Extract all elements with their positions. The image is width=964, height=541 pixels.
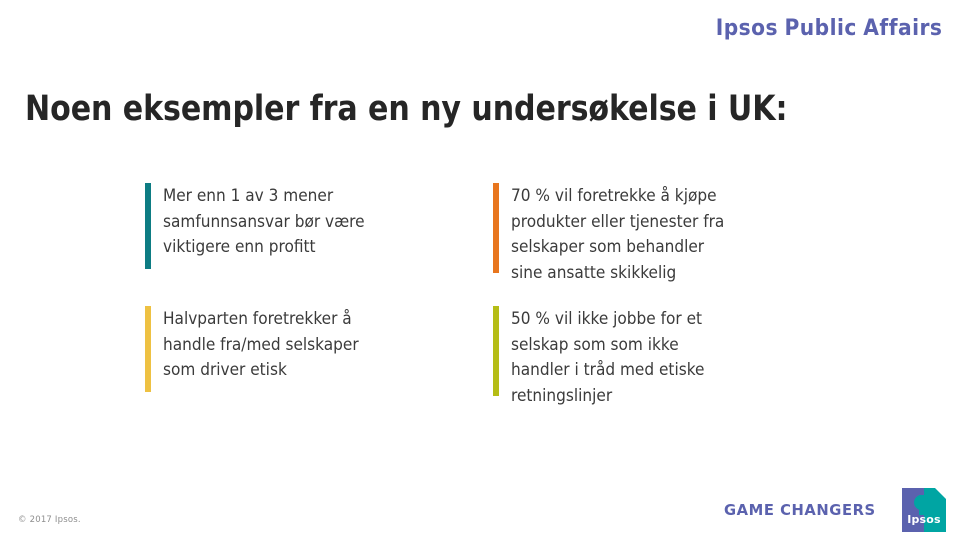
callout-line: handle fra/med selskaper bbox=[163, 332, 425, 358]
callout-line: selskap som som ikke bbox=[511, 332, 783, 358]
ipsos-logo: Ipsos bbox=[902, 488, 946, 532]
footer-brand-lockup: GAME CHANGERS Ipsos bbox=[716, 488, 946, 532]
slide-canvas: IpsosPublicAffairs Noen eksempler fra en… bbox=[0, 0, 964, 541]
callout-line: 70 % vil foretrekke å kjøpe bbox=[511, 183, 783, 209]
callout-line: selskaper som behandler bbox=[511, 234, 783, 260]
page-title: Noen eksempler fra en ny undersøkelse i … bbox=[25, 89, 787, 129]
callout-line: retningslinjer bbox=[511, 383, 783, 409]
callout-line: viktigere enn profitt bbox=[163, 234, 425, 260]
callout-block-2: 70 % vil foretrekke å kjøpe produkter el… bbox=[493, 183, 803, 285]
accent-bar-olive bbox=[493, 306, 499, 396]
callout-line: sine ansatte skikkelig bbox=[511, 260, 783, 286]
callout-line: produkter eller tjenester fra bbox=[511, 209, 783, 235]
callout-line: 50 % vil ikke jobbe for et bbox=[511, 306, 783, 332]
callout-grid: Mer enn 1 av 3 mener samfunnsansvar bør … bbox=[145, 183, 845, 423]
callout-line: Halvparten foretrekker å bbox=[163, 306, 425, 332]
accent-bar-yellow bbox=[145, 306, 151, 392]
callout-line: samfunnsansvar bør være bbox=[163, 209, 425, 235]
accent-bar-teal bbox=[145, 183, 151, 269]
callout-text-3: Halvparten foretrekker å handle fra/med … bbox=[163, 306, 425, 383]
copyright-notice: © 2017 Ipsos. bbox=[18, 515, 81, 525]
brand-word-ipsos: Ipsos bbox=[715, 16, 777, 41]
callout-line: handler i tråd med etiske bbox=[511, 357, 783, 383]
brand-ipsos-public-affairs: IpsosPublicAffairs bbox=[715, 18, 942, 40]
callout-text-4: 50 % vil ikke jobbe for et selskap som s… bbox=[511, 306, 783, 408]
callout-line: Mer enn 1 av 3 mener bbox=[163, 183, 425, 209]
tagline-game-changers: GAME CHANGERS bbox=[724, 501, 876, 519]
callout-line: som driver etisk bbox=[163, 357, 425, 383]
callout-text-2: 70 % vil foretrekke å kjøpe produkter el… bbox=[511, 183, 783, 285]
callout-block-1: Mer enn 1 av 3 mener samfunnsansvar bør … bbox=[145, 183, 445, 269]
callout-block-3: Halvparten foretrekker å handle fra/med … bbox=[145, 306, 445, 392]
callout-text-1: Mer enn 1 av 3 mener samfunnsansvar bør … bbox=[163, 183, 425, 260]
logo-wordmark: Ipsos bbox=[902, 514, 946, 525]
callout-block-4: 50 % vil ikke jobbe for et selskap som s… bbox=[493, 306, 803, 408]
brand-word-affairs: Affairs bbox=[863, 16, 942, 41]
logo-stem-mark bbox=[919, 495, 924, 515]
brand-word-public: Public bbox=[784, 16, 856, 41]
accent-bar-orange bbox=[493, 183, 499, 273]
